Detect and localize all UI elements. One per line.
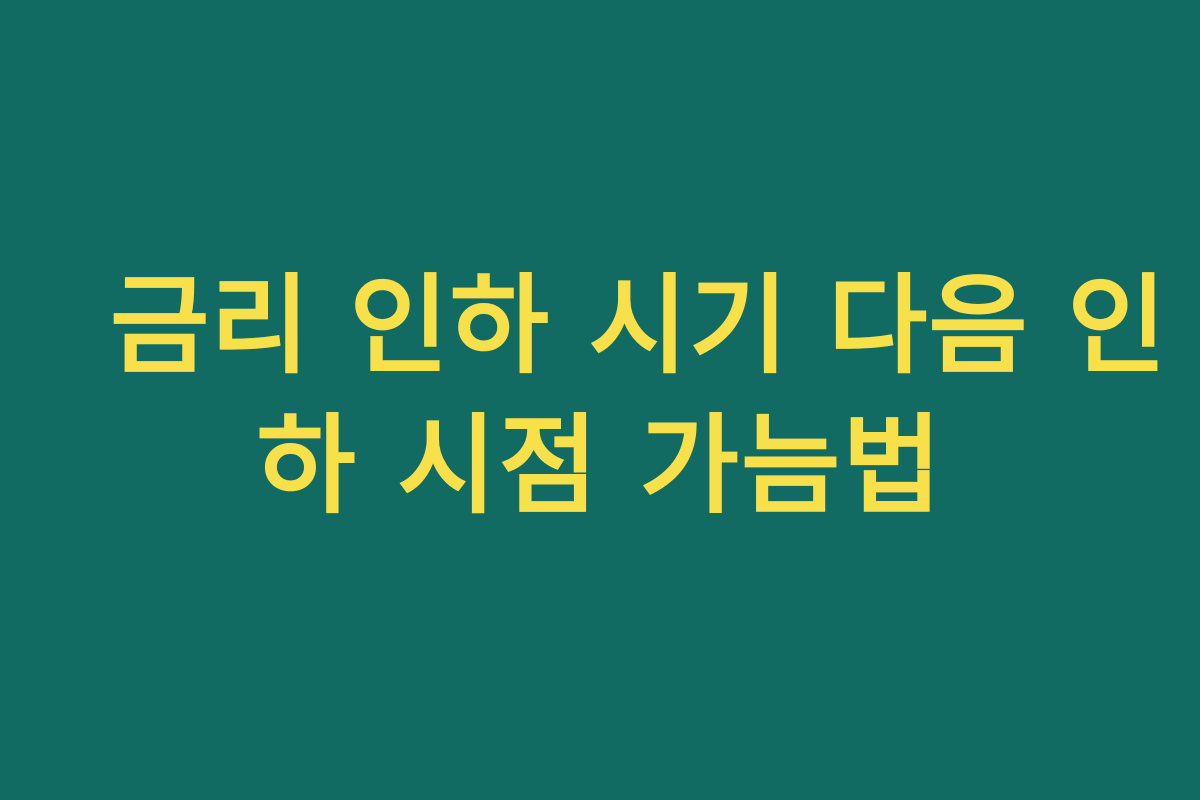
title-line-1: 금리 인하 시기 다음 인 — [110, 257, 1090, 397]
title-banner: 금리 인하 시기 다음 인 하 시점 가늠법 — [0, 0, 1200, 800]
page-title: 금리 인하 시기 다음 인 하 시점 가늠법 — [110, 257, 1090, 543]
title-line-2: 하 시점 가늠법 — [110, 397, 1090, 537]
